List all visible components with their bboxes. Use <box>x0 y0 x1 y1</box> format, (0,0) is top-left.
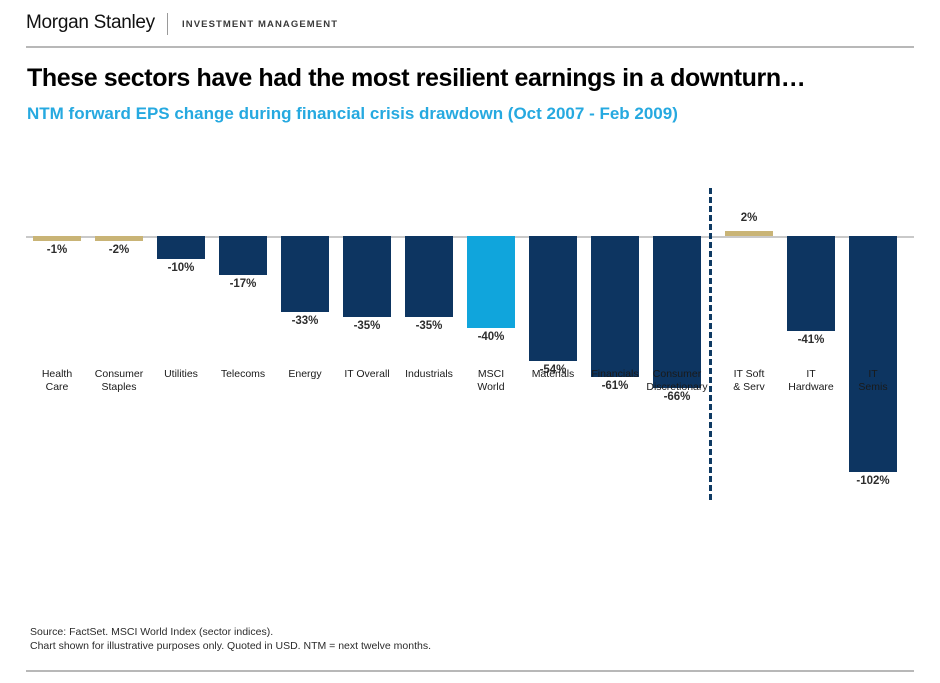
bar[interactable] <box>219 236 267 275</box>
footer-rule <box>26 670 914 672</box>
page-title: These sectors have had the most resilien… <box>27 64 917 93</box>
bar-group[interactable]: -2%ConsumerStaples <box>88 150 150 570</box>
brand-subtitle: INVESTMENT MANAGEMENT <box>182 19 338 30</box>
bar[interactable] <box>281 236 329 312</box>
bar[interactable] <box>529 236 577 361</box>
page-subtitle: NTM forward EPS change during financial … <box>27 104 917 124</box>
bar-group[interactable]: -17%Telecoms <box>212 150 274 570</box>
bar[interactable] <box>591 236 639 377</box>
bar[interactable] <box>725 231 773 236</box>
bar-group[interactable]: -40%MSCIWorld <box>460 150 522 570</box>
logo-divider <box>167 13 168 35</box>
bar-group[interactable]: -54%Materials <box>522 150 584 570</box>
morgan-stanley-logo: Morgan Stanley <box>26 12 155 34</box>
bar-group[interactable]: -33%Energy <box>274 150 336 570</box>
bar-group[interactable]: -35%IT Overall <box>336 150 398 570</box>
header-rule <box>26 46 914 48</box>
bar-value-label: -102% <box>842 475 904 487</box>
bar-chart: -1%HealthCare-2%ConsumerStaples-10%Utili… <box>0 150 940 570</box>
bar-group[interactable]: -66%ConsumerDiscretionary <box>646 150 708 570</box>
bar[interactable] <box>787 236 835 331</box>
source-footnote: Source: FactSet. MSCI World Index (secto… <box>30 625 431 653</box>
bar[interactable] <box>95 236 143 241</box>
bar-value-label: -33% <box>274 315 336 327</box>
bar-value-label: -35% <box>398 320 460 332</box>
bar-group[interactable]: -10%Utilities <box>150 150 212 570</box>
bar[interactable] <box>33 236 81 241</box>
bar-value-label: -61% <box>584 380 646 392</box>
bar[interactable] <box>849 236 897 472</box>
bar-group[interactable]: -35%Industrials <box>398 150 460 570</box>
bar-value-label: -1% <box>26 244 88 256</box>
bar[interactable] <box>653 236 701 388</box>
bar-group[interactable]: -41%ITHardware <box>780 150 842 570</box>
bar-group[interactable]: 2%IT Soft& Serv <box>718 150 780 570</box>
bar-group[interactable]: -61%Financials <box>584 150 646 570</box>
bar-value-label: 2% <box>718 212 780 224</box>
bar[interactable] <box>343 236 391 317</box>
bar-group[interactable]: -102%ITSemis <box>842 150 904 570</box>
bar-value-label: -41% <box>780 334 842 346</box>
bar-group[interactable]: -1%HealthCare <box>26 150 88 570</box>
bar-value-label: -17% <box>212 278 274 290</box>
category-label: ITSemis <box>836 368 910 394</box>
bar[interactable] <box>157 236 205 259</box>
bar-value-label: -10% <box>150 262 212 274</box>
category-label: ConsumerDiscretionary <box>640 368 714 394</box>
category-divider-dashed-line <box>709 188 712 500</box>
bar-value-label: -40% <box>460 331 522 343</box>
bar[interactable] <box>467 236 515 328</box>
bar-value-label: -2% <box>88 244 150 256</box>
brand-header: Morgan Stanley INVESTMENT MANAGEMENT <box>0 0 940 48</box>
bar[interactable] <box>405 236 453 317</box>
bar-value-label: -35% <box>336 320 398 332</box>
